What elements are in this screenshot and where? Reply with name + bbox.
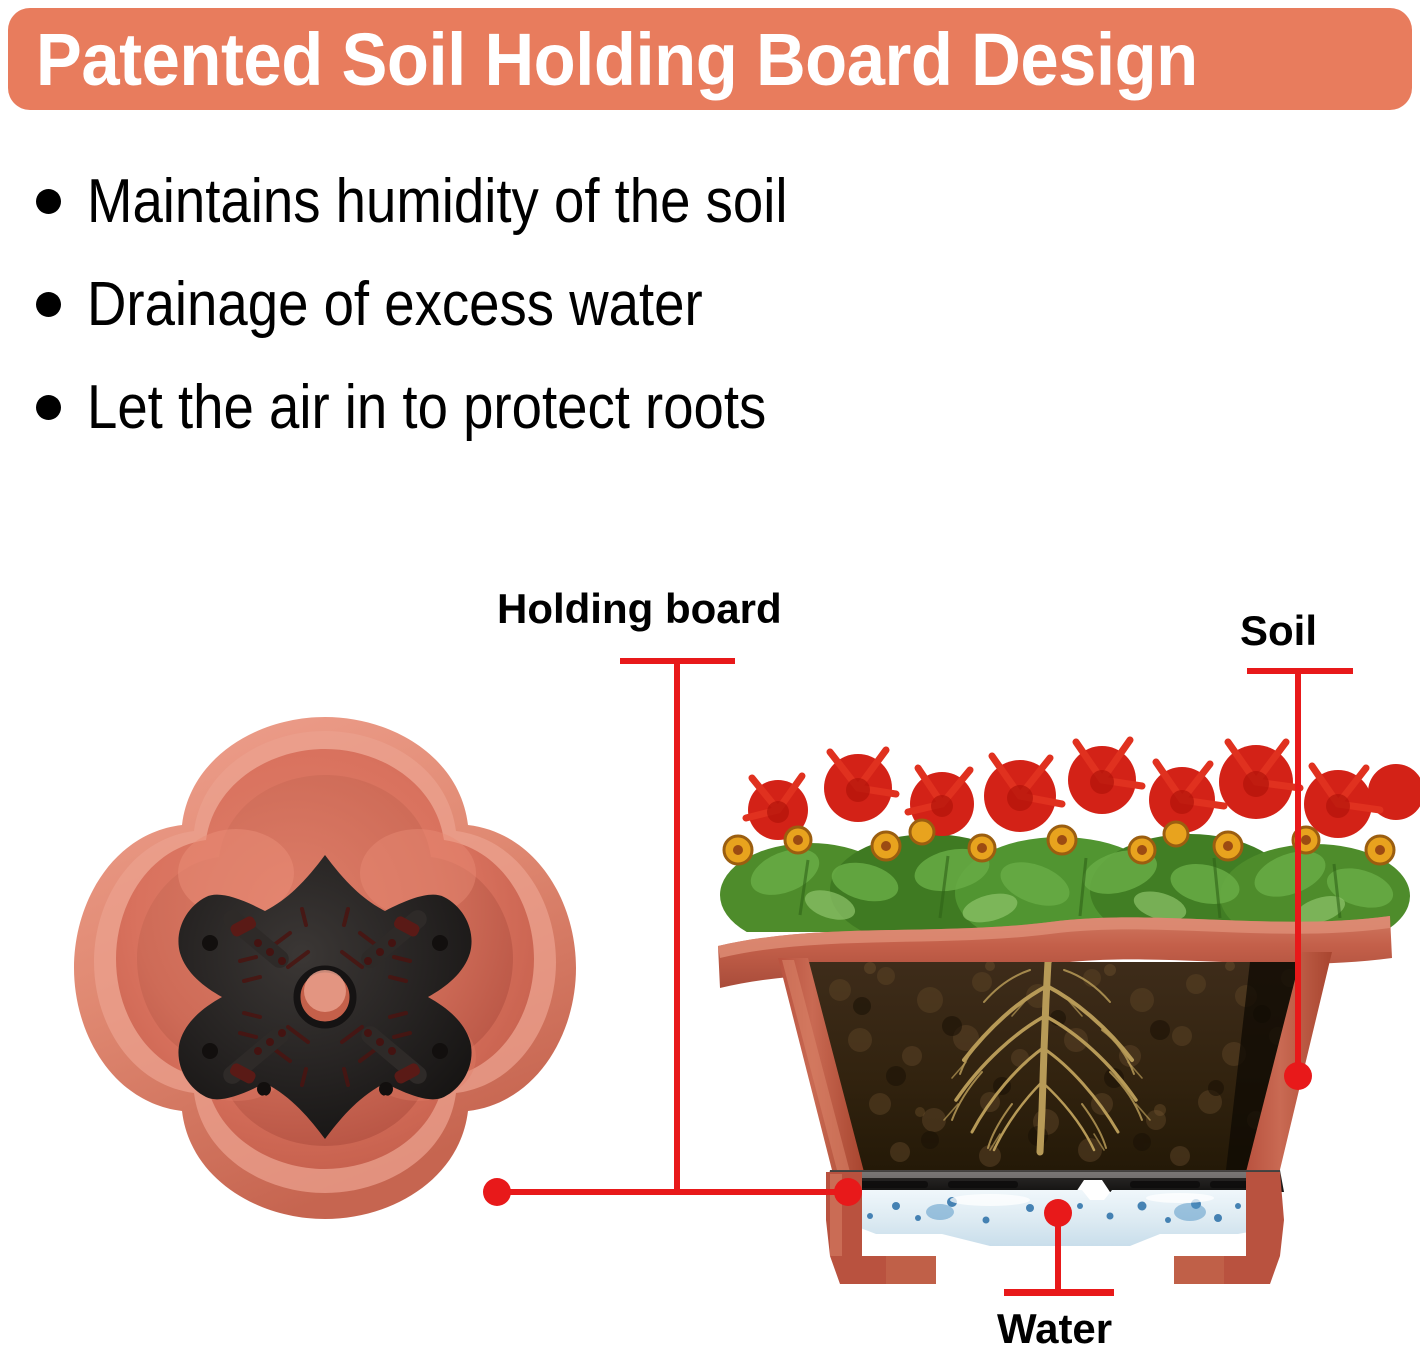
holding-board-marker-left — [483, 1178, 511, 1206]
label-water: Water — [997, 1305, 1112, 1353]
bullet-label: Maintains humidity of the soil — [87, 171, 788, 233]
bullet-point-icon — [36, 395, 61, 420]
soil-holding-board — [178, 855, 471, 1139]
planter-top-view-illustration — [40, 705, 610, 1305]
red-flowers — [746, 740, 1420, 840]
bullet-point-icon — [36, 189, 61, 214]
water-leader-stem — [1055, 1213, 1061, 1295]
soil-marker — [1284, 1062, 1312, 1090]
label-soil: Soil — [1240, 607, 1317, 655]
bullet-point-icon — [36, 292, 61, 317]
page-title: Patented Soil Holding Board Design — [8, 17, 1198, 102]
water-leader-tbar — [1004, 1289, 1114, 1296]
bullet-label: Let the air in to protect roots — [87, 377, 766, 439]
chrysanthemum-plants — [720, 740, 1420, 949]
title-banner: Patented Soil Holding Board Design — [8, 8, 1412, 110]
list-item: Let the air in to protect roots — [36, 356, 1136, 459]
holding-board-leader-stem — [674, 658, 680, 1192]
holding-board-marker-right — [834, 1178, 862, 1206]
planter-top-view-photo — [40, 705, 610, 1305]
soil-leader-stem — [1295, 668, 1301, 1072]
holding-board-leader-crossbar — [497, 1189, 851, 1195]
feature-bullet-list: Maintains humidity of the soil Drainage … — [36, 150, 1136, 459]
list-item: Drainage of excess water — [36, 253, 1136, 356]
list-item: Maintains humidity of the soil — [36, 150, 1136, 253]
bullet-label: Drainage of excess water — [87, 274, 703, 336]
holding-board-plate — [826, 1170, 1284, 1192]
label-holding-board: Holding board — [497, 585, 782, 633]
soil-cross-section — [802, 958, 1308, 1170]
